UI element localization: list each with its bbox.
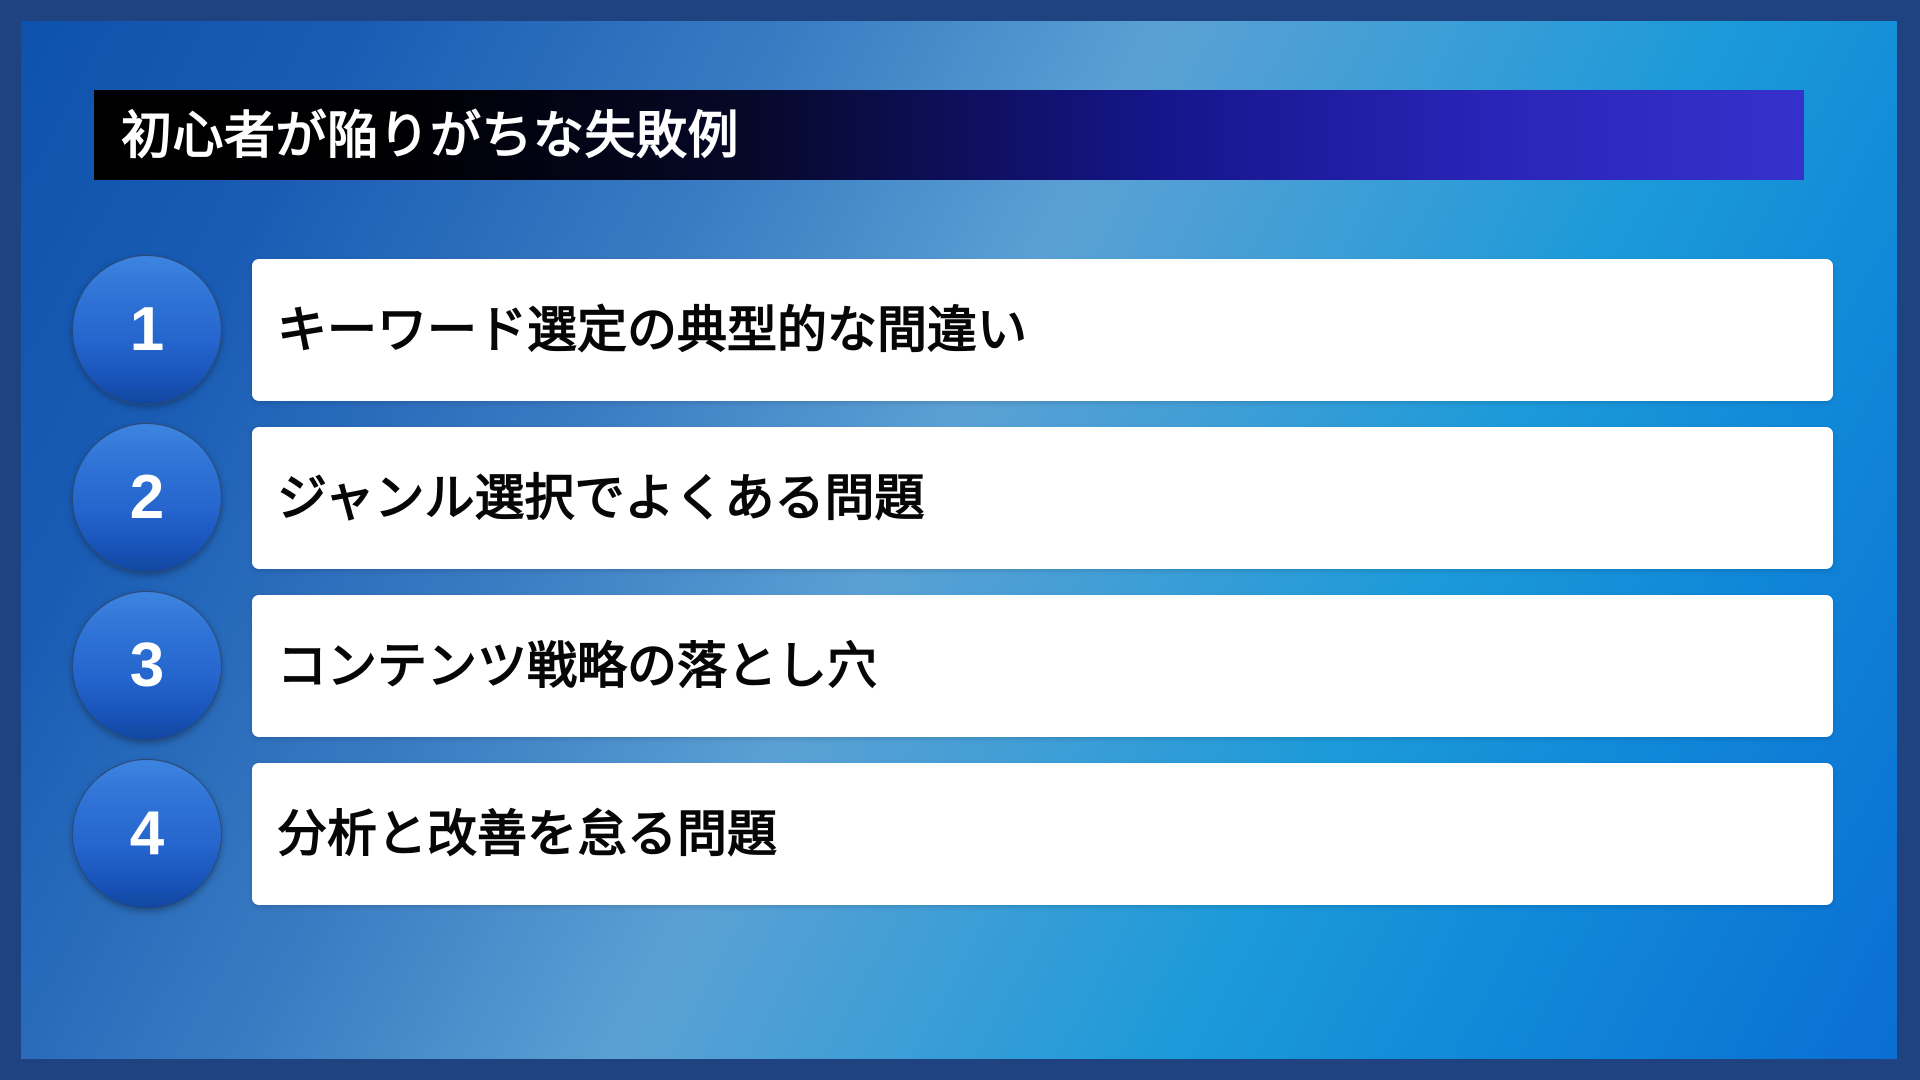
list-item-card[interactable]: コンテンツ戦略の落とし穴	[252, 595, 1833, 737]
step-number-label: 4	[130, 803, 164, 865]
step-number-label: 2	[130, 467, 164, 529]
list-item[interactable]: 1 キーワード選定の典型的な間違い	[21, 259, 1897, 401]
numbered-list: 1 キーワード選定の典型的な間違い 2 ジャンル選択でよくある問題 3	[21, 259, 1897, 905]
step-number-badge: 4	[72, 759, 222, 909]
list-item-label: コンテンツ戦略の落とし穴	[277, 641, 877, 691]
step-number-badge: 3	[72, 591, 222, 741]
list-item-label: ジャンル選択でよくある問題	[277, 473, 925, 523]
list-item[interactable]: 4 分析と改善を怠る問題	[21, 763, 1897, 905]
step-number-label: 1	[130, 299, 164, 361]
list-item-card[interactable]: キーワード選定の典型的な間違い	[252, 259, 1833, 401]
list-item[interactable]: 3 コンテンツ戦略の落とし穴	[21, 595, 1897, 737]
list-item-label: キーワード選定の典型的な間違い	[277, 305, 1027, 355]
slide-header-bar: 初心者が陥りがちな失敗例	[94, 90, 1804, 180]
list-item-card[interactable]: ジャンル選択でよくある問題	[252, 427, 1833, 569]
list-item[interactable]: 2 ジャンル選択でよくある問題	[21, 427, 1897, 569]
step-number-badge: 1	[72, 255, 222, 405]
page-title: 初心者が陥りがちな失敗例	[121, 110, 739, 161]
step-number-label: 3	[130, 635, 164, 697]
list-item-card[interactable]: 分析と改善を怠る問題	[252, 763, 1833, 905]
slide-root: 初心者が陥りがちな失敗例 1 キーワード選定の典型的な間違い 2 ジャンル選択で…	[0, 0, 1920, 1080]
step-number-badge: 2	[72, 423, 222, 573]
list-item-label: 分析と改善を怠る問題	[277, 809, 777, 859]
slide-canvas: 初心者が陥りがちな失敗例 1 キーワード選定の典型的な間違い 2 ジャンル選択で…	[21, 21, 1897, 1059]
